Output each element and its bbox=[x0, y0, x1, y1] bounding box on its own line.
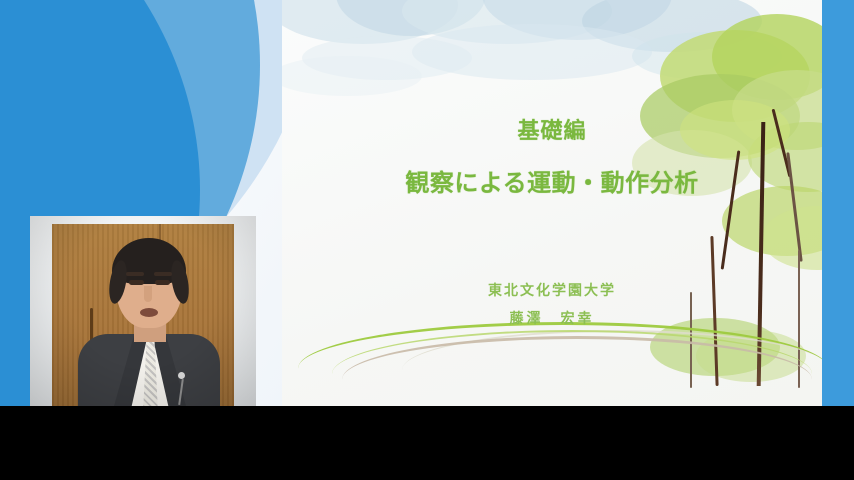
caption-bar: 析 観察による運動 ・ 動作分析 bbox=[0, 406, 854, 480]
cloud-shape bbox=[282, 56, 422, 96]
slide-subtitle: 観察による運動・動作分析 bbox=[282, 163, 822, 198]
background-right-blue-band bbox=[822, 0, 854, 406]
video-player-frame: 基礎編 観察による運動・動作分析 東北文化学園大学 藤澤 宏幸 析 観察による運… bbox=[0, 0, 854, 480]
speaker-video-inset bbox=[30, 216, 256, 406]
video-vignette bbox=[30, 216, 256, 406]
slide-author: 藤澤 宏幸 bbox=[282, 308, 822, 328]
ground-curve-green bbox=[298, 322, 822, 406]
slide-title: 基礎編 bbox=[282, 113, 822, 145]
presentation-slide: 基礎編 観察による運動・動作分析 東北文化学園大学 藤澤 宏幸 bbox=[282, 0, 822, 406]
slide-organization: 東北文化学園大学 bbox=[282, 280, 822, 300]
